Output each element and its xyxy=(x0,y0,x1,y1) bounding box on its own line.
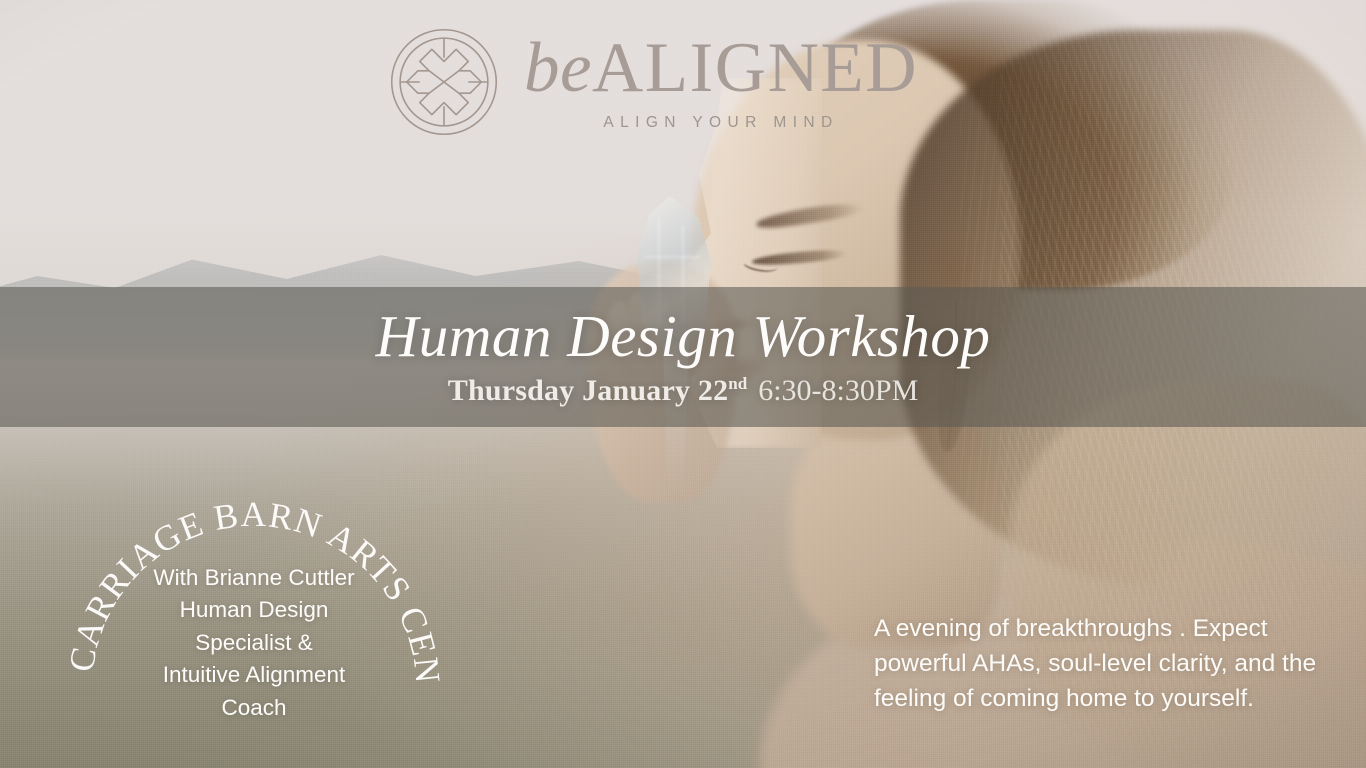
brand-text-block: beALIGNED ALIGN YOUR MIND xyxy=(524,34,918,132)
event-datetime: Thursday January 22nd6:30-8:30PM xyxy=(448,376,919,406)
page-title: Human Design Workshop xyxy=(376,307,991,366)
brand-name-main: ALIGNED xyxy=(592,29,918,107)
mandala-cross-circle-icon xyxy=(388,26,500,138)
description-line: powerful AHAs, soul-level clarity, and t… xyxy=(874,647,1344,682)
poster-canvas: beALIGNED ALIGN YOUR MIND Human Design W… xyxy=(0,0,1366,768)
presenter-line: Specialist & xyxy=(129,627,379,659)
title-banner: Human Design Workshop Thursday January 2… xyxy=(0,287,1366,427)
event-date-ordinal: nd xyxy=(728,375,747,392)
venue-badge: THE CARRIAGE BARN ARTS CENTER With Brian… xyxy=(62,438,446,768)
presenter-line: Coach xyxy=(129,692,379,724)
event-date: Thursday January 22 xyxy=(448,376,729,406)
description-line: feeling of coming home to yourself. xyxy=(874,682,1344,717)
brand-lockup: beALIGNED ALIGN YOUR MIND xyxy=(388,26,918,138)
presenter-line: With Brianne Cuttler xyxy=(129,562,379,594)
brand-tagline: ALIGN YOUR MIND xyxy=(603,114,838,132)
presenter-block: With Brianne Cuttler Human Design Specia… xyxy=(129,562,379,724)
presenter-line: Intuitive Alignment xyxy=(129,659,379,691)
brand-name-prefix: be xyxy=(524,29,592,107)
event-description: A evening of breakthroughs . Expect powe… xyxy=(874,612,1344,716)
brand-wordmark: beALIGNED xyxy=(524,34,918,102)
event-time: 6:30-8:30PM xyxy=(758,376,918,406)
presenter-line: Human Design xyxy=(129,594,379,626)
description-line: A evening of breakthroughs . Expect xyxy=(874,612,1344,647)
